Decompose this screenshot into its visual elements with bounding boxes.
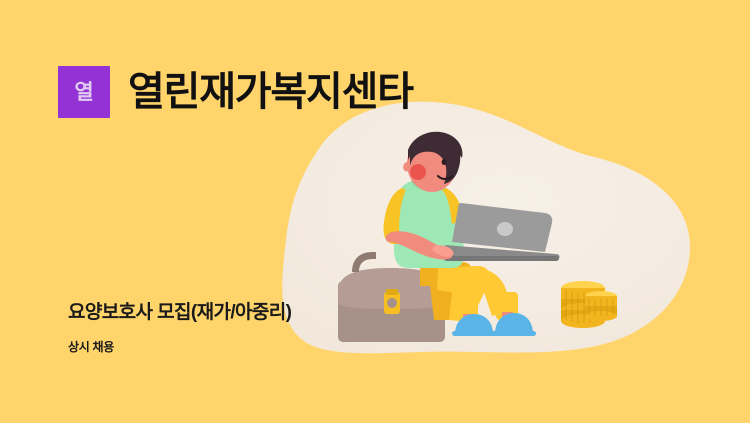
job-subline: 상시 채용	[68, 340, 291, 354]
logo-badge: 열	[58, 66, 110, 118]
cream-blob-shape	[282, 102, 690, 354]
recruitment-banner: 열 열린재가복지센타	[0, 0, 750, 423]
logo-badge-character: 열	[74, 82, 93, 103]
job-headline: 요양보호사 모집(재가/아중리)	[68, 302, 291, 325]
brand-title: 열린재가복지센타	[128, 72, 413, 112]
brand-header: 열 열린재가복지센타	[58, 66, 413, 118]
background-blob-layer	[0, 0, 750, 423]
job-posting-copy: 요양보호사 모집(재가/아중리) 상시 채용	[68, 302, 291, 354]
